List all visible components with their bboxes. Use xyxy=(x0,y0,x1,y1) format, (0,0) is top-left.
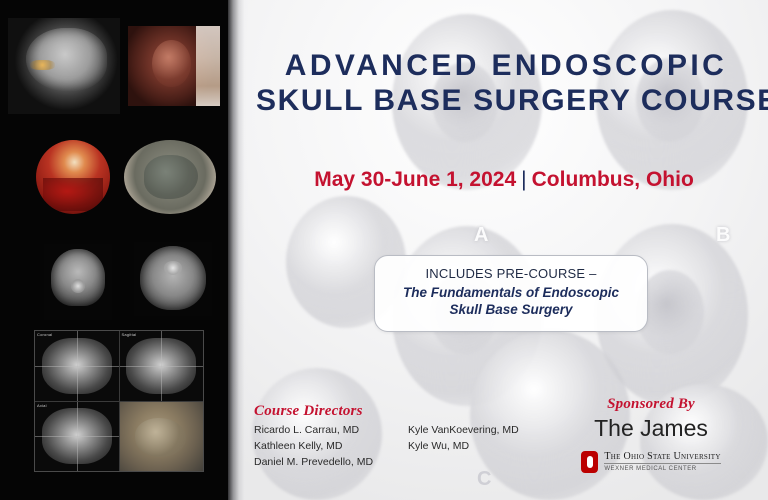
quad-cell-sagittal: Sagittal xyxy=(120,331,204,401)
poster-content: ADVANCED ENDOSCOPIC SKULL BASE SURGERY C… xyxy=(240,0,768,500)
directors-column-2: Kyle VanKoevering, MD Kyle Wu, MD xyxy=(408,423,544,471)
axial-mri-image xyxy=(134,242,212,316)
osu-block-o-icon xyxy=(581,451,598,473)
director-name: Daniel M. Prevedello, MD xyxy=(254,455,396,471)
quad-cell-coronal: Coronal xyxy=(35,331,119,401)
precourse-title-line-2: Skull Base Surgery xyxy=(387,301,635,318)
endoscopic-pale-image xyxy=(124,140,216,214)
event-location: Columbus, Ohio xyxy=(532,168,694,191)
osu-medical-center-name: WEXNER MEDICAL CENTER xyxy=(604,466,720,472)
quad-label-coronal: Coronal xyxy=(37,332,52,337)
sponsor-name: The James xyxy=(546,414,756,443)
page-title: ADVANCED ENDOSCOPIC SKULL BASE SURGERY C… xyxy=(256,48,756,119)
director-name: Ricardo L. Carrau, MD xyxy=(254,423,396,439)
director-name: Kathleen Kelly, MD xyxy=(254,439,396,455)
navigation-quad-image: Coronal Sagittal Axial xyxy=(34,330,204,472)
precourse-title-line-1: The Fundamentals of Endoscopic xyxy=(387,284,635,301)
conference-poster: A B C Coronal Sagittal Axial xyxy=(0,0,768,500)
title-line-2: SKULL BASE SURGERY COURSE xyxy=(256,83,756,118)
quad-cell-axial: Axial xyxy=(35,402,119,472)
image-collage-panel: Coronal Sagittal Axial xyxy=(0,0,228,500)
osu-university-name: The Ohio State University xyxy=(604,451,720,464)
quad-label-sagittal: Sagittal xyxy=(122,332,137,337)
precourse-heading: INCLUDES PRE-COURSE – xyxy=(387,266,635,281)
sponsored-by-label: Sponsored By xyxy=(546,396,756,413)
directors-column-1: Ricardo L. Carrau, MD Kathleen Kelly, MD… xyxy=(254,423,396,471)
endoscopic-tissue-image xyxy=(128,26,220,106)
event-date: May 30-June 1, 2024 xyxy=(314,168,516,191)
date-separator: | xyxy=(516,168,531,191)
osu-wexner-logo: The Ohio State University WEXNER MEDICAL… xyxy=(546,451,756,473)
endoscopic-red-image xyxy=(36,140,110,214)
director-name: Kyle VanKoevering, MD xyxy=(408,423,544,439)
sponsor-section: Sponsored By The James The Ohio State Un… xyxy=(546,396,756,473)
sagittal-mri-image xyxy=(8,18,120,114)
coronal-mri-image xyxy=(44,244,112,320)
title-line-1: ADVANCED ENDOSCOPIC xyxy=(256,48,756,83)
date-location-line: May 30-June 1, 2024|Columbus, Ohio xyxy=(240,168,768,192)
quad-cell-anatomy xyxy=(120,402,204,472)
director-name: Kyle Wu, MD xyxy=(408,439,544,455)
course-directors-heading: Course Directors xyxy=(254,403,544,420)
course-directors-section: Course Directors Ricardo L. Carrau, MD K… xyxy=(254,403,544,471)
precourse-callout-box: INCLUDES PRE-COURSE – The Fundamentals o… xyxy=(374,255,648,332)
quad-label-axial: Axial xyxy=(37,403,47,408)
